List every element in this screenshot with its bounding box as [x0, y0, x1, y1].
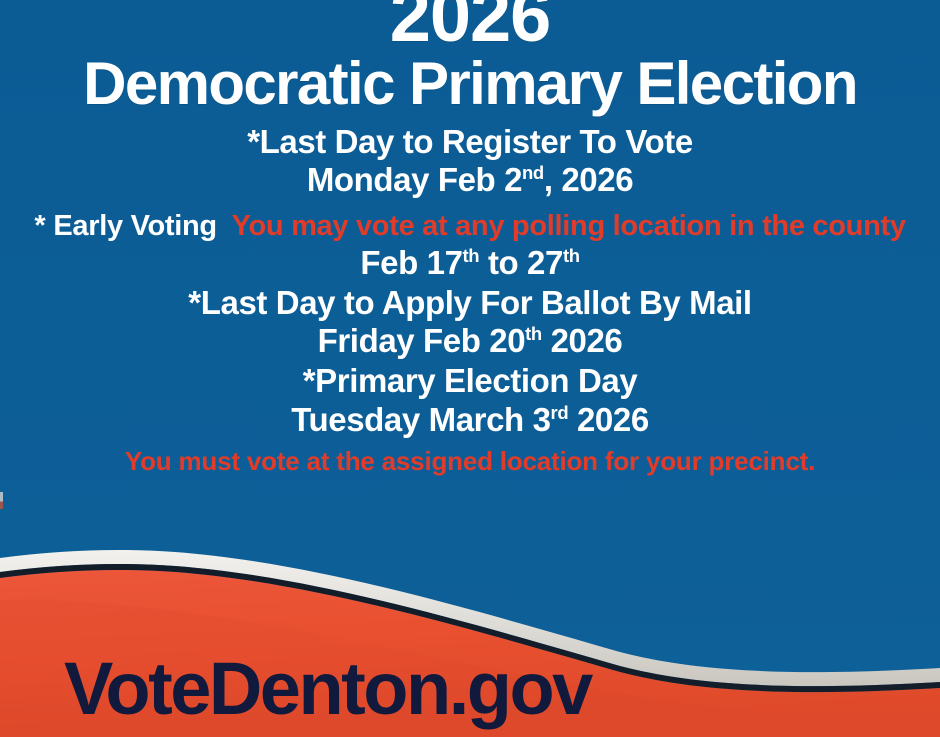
election-date-ordinal: rd [551, 402, 569, 423]
election-announcement-poster: 2026 Democratic Primary Election *Last D… [0, 0, 940, 737]
register-deadline-label: *Last Day to Register To Vote [0, 123, 940, 161]
poster-text-stack: 2026 Democratic Primary Election *Last D… [0, 0, 940, 476]
election-date-prefix: Tuesday March 3 [291, 401, 550, 438]
election-day-label: *Primary Election Day [0, 362, 940, 400]
ballot-by-mail-label: *Last Day to Apply For Ballot By Mail [0, 284, 940, 322]
ballot-date-ordinal: th [525, 323, 542, 344]
edge-artifact [0, 492, 3, 509]
election-title: Democratic Primary Election [0, 53, 940, 114]
early-voting-label: Early Voting [53, 210, 216, 242]
footer-url-wrap: VoteDenton.gov [64, 652, 591, 726]
early-voting-ordinal-end: th [563, 245, 580, 266]
early-voting-range-prefix: Feb 17 [360, 244, 462, 281]
early-voting-note: You may vote at any polling location in … [232, 210, 906, 242]
election-day-date: Tuesday March 3rd 2026 [0, 401, 940, 439]
ballot-date-tail: 2026 [542, 322, 623, 359]
early-voting-row: * Early Voting You may vote at any polli… [0, 210, 940, 243]
early-voting-dates: Feb 17th to 27th [0, 244, 940, 282]
register-date-ordinal: nd [522, 162, 544, 183]
early-voting-star: * [34, 210, 45, 242]
ballot-by-mail-date: Friday Feb 20th 2026 [0, 322, 940, 360]
register-deadline-date: Monday Feb 2nd, 2026 [0, 161, 940, 199]
ballot-date-prefix: Friday Feb 20 [318, 322, 526, 359]
register-date-prefix: Monday Feb 2 [307, 161, 522, 198]
early-voting-ordinal-start: th [463, 245, 480, 266]
election-date-tail: 2026 [568, 401, 649, 438]
vote-denton-url: VoteDenton.gov [64, 652, 591, 726]
year-heading: 2026 [0, 0, 940, 47]
precinct-notice: You must vote at the assigned location f… [0, 447, 940, 476]
register-date-tail: , 2026 [544, 161, 633, 198]
early-voting-range-mid: to 27 [479, 244, 563, 281]
